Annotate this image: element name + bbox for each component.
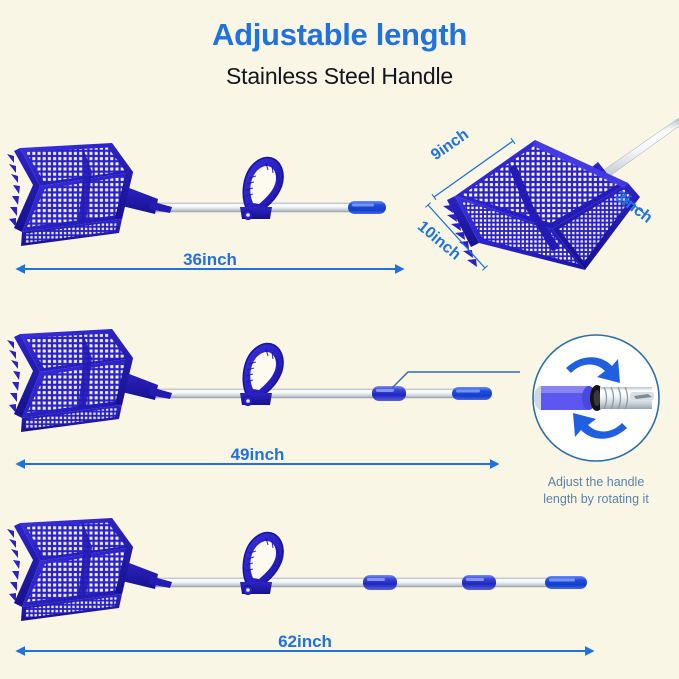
scoop-head-62: [7, 518, 133, 621]
scoop-head-49: [7, 329, 133, 432]
handle-end-cap: [545, 576, 587, 589]
rotate-caption-line-1: Adjust the handle: [501, 474, 679, 491]
rotate-callout-circle: [533, 335, 659, 461]
head-neck-36: [122, 186, 172, 214]
length-label-49inch: 49inch: [0, 445, 515, 465]
head-neck-49: [122, 372, 172, 400]
scoop-head-36: [7, 143, 133, 246]
handle-end-cap: [348, 201, 386, 214]
product-illustrations: [0, 0, 679, 679]
length-label-62inch: 62inch: [0, 632, 610, 652]
rotate-caption-line-2: length by rotating it: [501, 491, 679, 508]
head-neck-62: [122, 561, 172, 589]
infographic-canvas: Adjustable length Stainless Steel Handle: [0, 0, 679, 679]
rake-36inch: [7, 143, 386, 246]
rake-49inch: [7, 329, 492, 432]
callout-leader-line: [392, 372, 520, 388]
coupling-collar-2: [462, 575, 496, 590]
rotate-callout-caption: Adjust the handle length by rotating it: [501, 474, 679, 508]
coupling-collar: [372, 386, 406, 401]
handle-shaft-62: [150, 575, 587, 590]
length-label-36inch: 36inch: [0, 250, 420, 270]
rake-62inch: [7, 518, 587, 621]
callout-threaded-shaft: [600, 387, 654, 409]
coupling-collar-1: [363, 575, 397, 590]
handle-end-cap: [452, 387, 492, 400]
handle-shaft-49: [150, 386, 492, 401]
callout-grip-sleeve: [534, 386, 596, 410]
